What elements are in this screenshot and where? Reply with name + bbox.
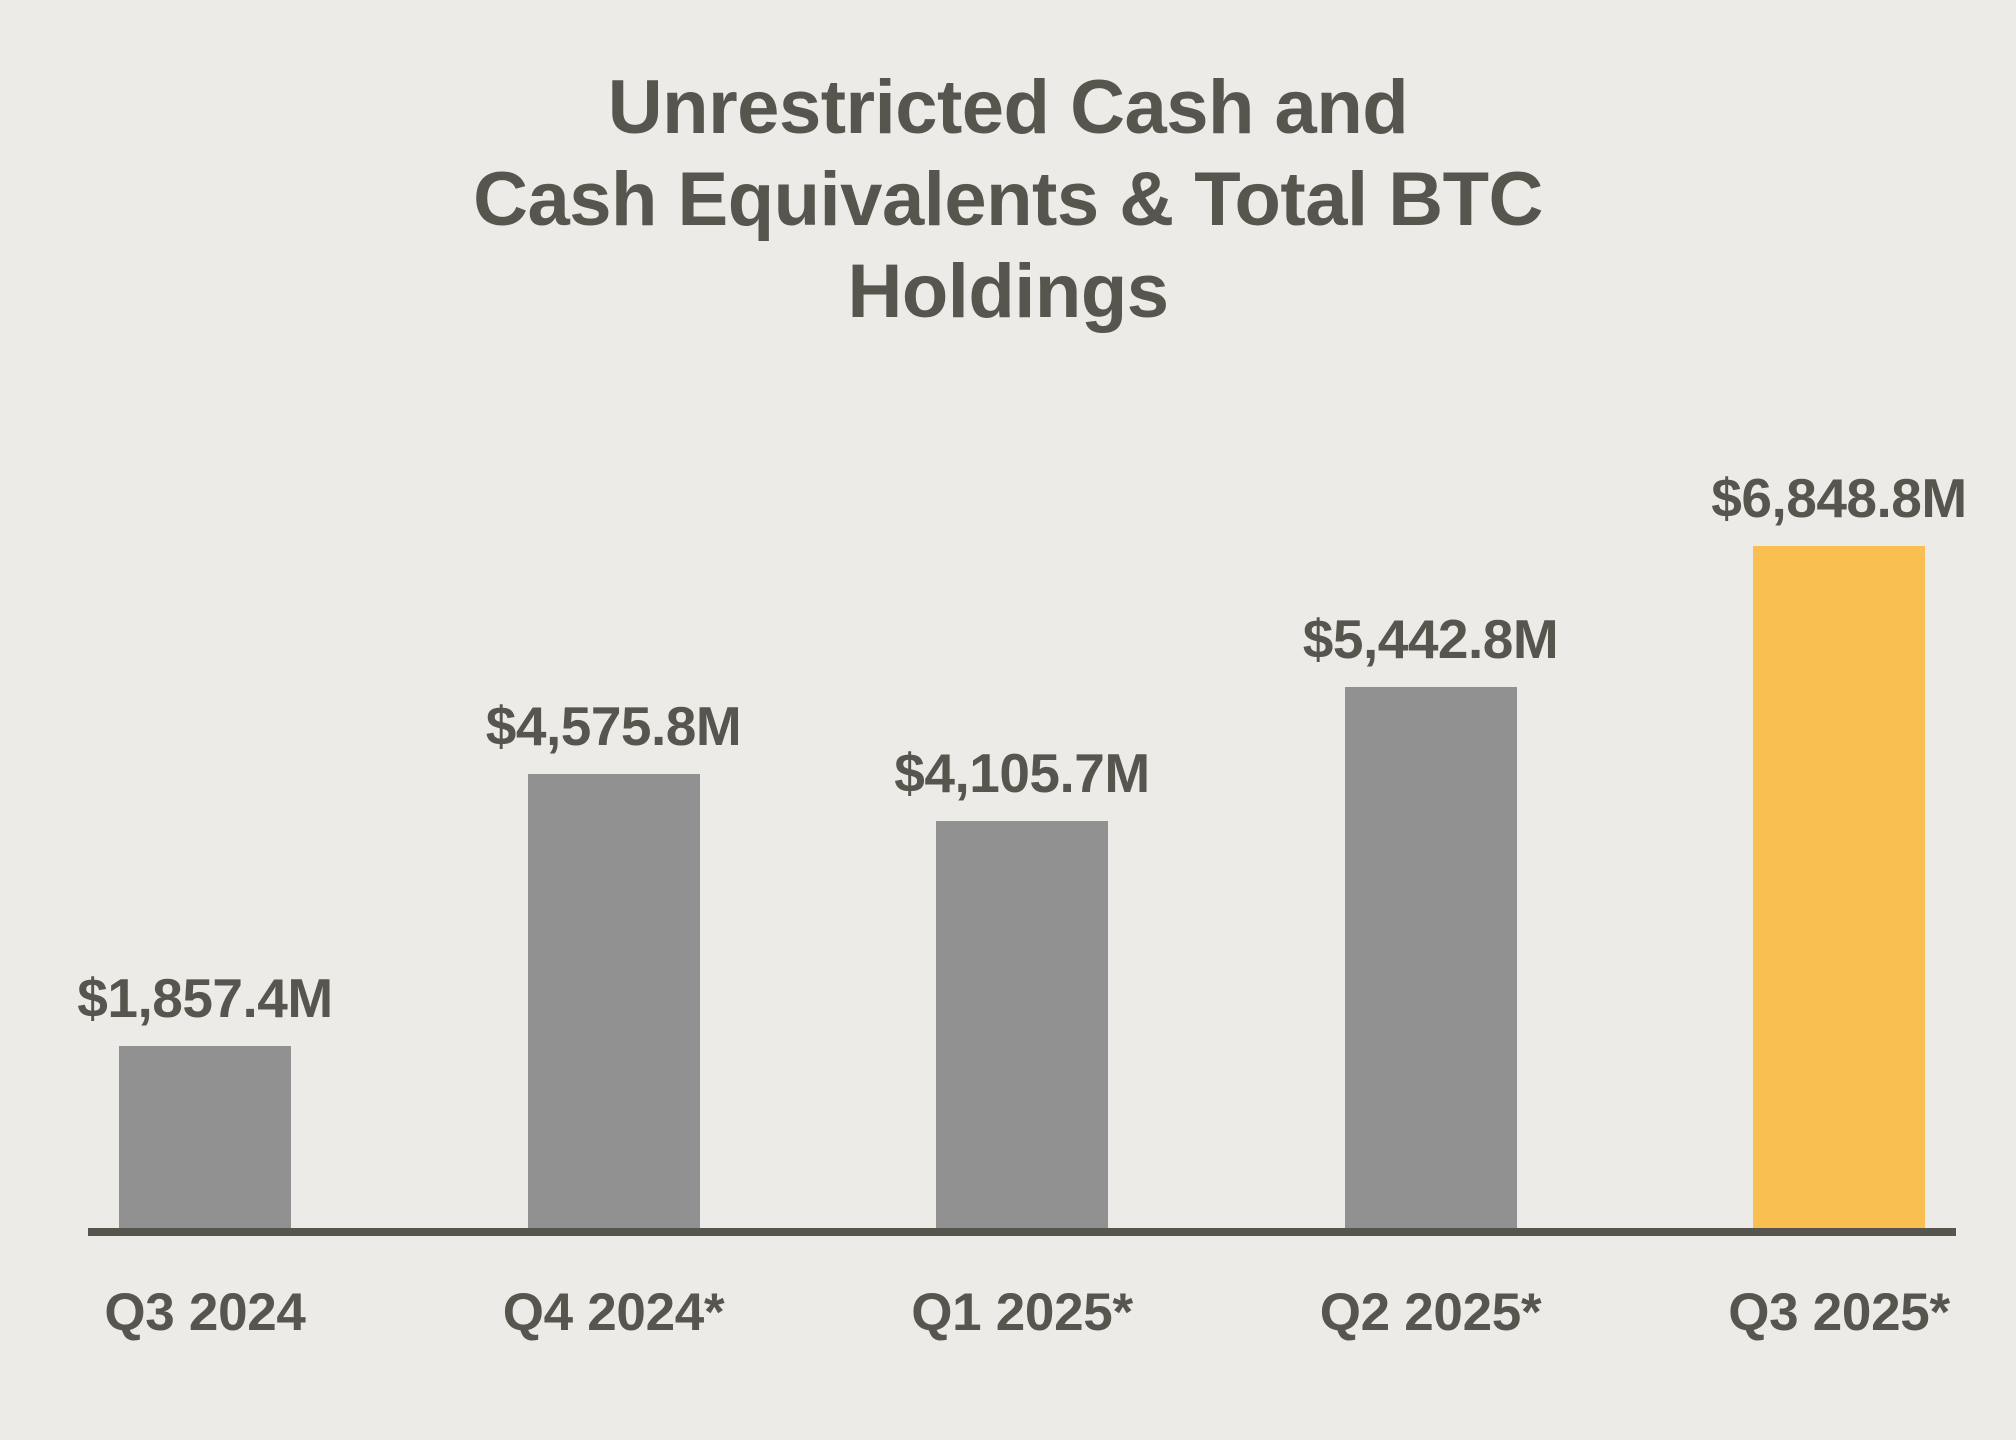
title-line-3: Holdings bbox=[0, 246, 2016, 338]
x-tick-label: Q3 2024 bbox=[104, 1283, 305, 1342]
bar-value-label: $4,105.7M bbox=[894, 741, 1149, 805]
bar-rect[interactable] bbox=[936, 821, 1108, 1232]
x-tick-q1-2025: Q1 2025* bbox=[905, 1282, 1139, 1343]
title-line-2: Cash Equivalents & Total BTC bbox=[0, 154, 2016, 246]
bar-series: $1,857.4M $4,575.8M $4,105.7M $5,442.8M … bbox=[88, 360, 1956, 1232]
x-axis-line bbox=[88, 1228, 1956, 1236]
bar-group-q4-2024: $4,575.8M bbox=[497, 360, 731, 1232]
x-tick-label: Q4 2024* bbox=[503, 1283, 725, 1342]
page-title: Unrestricted Cash and Cash Equivalents &… bbox=[0, 62, 2016, 338]
bar-rect[interactable] bbox=[119, 1046, 291, 1232]
bar-rect[interactable] bbox=[528, 774, 700, 1232]
bar-value-label: $6,848.8M bbox=[1711, 466, 1966, 530]
x-axis-categories: Q3 2024 Q4 2024* Q1 2025* Q2 2025* Q3 20… bbox=[88, 1282, 1956, 1343]
x-tick-q4-2024: Q4 2024* bbox=[497, 1282, 731, 1343]
x-tick-q3-2024: Q3 2024 bbox=[88, 1282, 322, 1343]
bar-group-q1-2025: $4,105.7M bbox=[905, 360, 1139, 1232]
plot-area: $1,857.4M $4,575.8M $4,105.7M $5,442.8M … bbox=[88, 360, 1956, 1232]
bar-rect[interactable] bbox=[1345, 687, 1517, 1232]
bar-rect[interactable] bbox=[1753, 546, 1925, 1232]
bar-value-label: $1,857.4M bbox=[77, 966, 332, 1030]
x-tick-label: Q2 2025* bbox=[1320, 1283, 1542, 1342]
bar-value-label: $5,442.8M bbox=[1303, 607, 1558, 671]
x-tick-label: Q1 2025* bbox=[911, 1283, 1133, 1342]
x-tick-q3-2025: Q3 2025* bbox=[1722, 1282, 1956, 1343]
x-tick-q2-2025: Q2 2025* bbox=[1314, 1282, 1548, 1343]
x-tick-label: Q3 2025* bbox=[1728, 1283, 1950, 1342]
bar-group-q3-2024: $1,857.4M bbox=[88, 360, 322, 1232]
bar-group-q3-2025: $6,848.8M bbox=[1722, 360, 1956, 1232]
bar-value-label: $4,575.8M bbox=[486, 694, 741, 758]
chart-canvas: Unrestricted Cash and Cash Equivalents &… bbox=[0, 0, 2016, 1440]
title-line-1: Unrestricted Cash and bbox=[0, 62, 2016, 154]
bar-group-q2-2025: $5,442.8M bbox=[1314, 360, 1548, 1232]
